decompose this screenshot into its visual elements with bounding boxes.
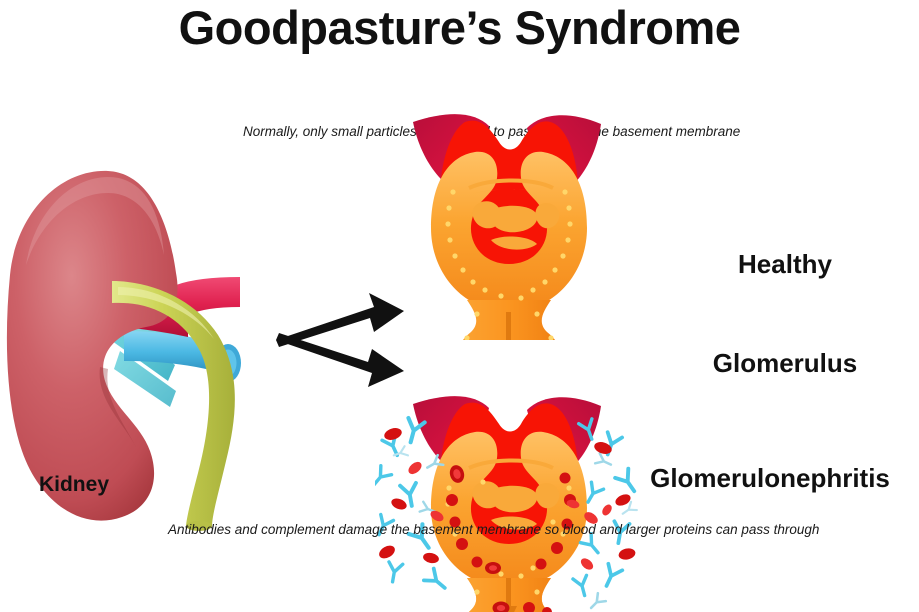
healthy-label-line2: Glomerulus <box>655 347 915 380</box>
healthy-glomerulus-illustration <box>405 100 615 340</box>
branching-arrow-icon <box>268 285 408 395</box>
diagram-canvas: Goodpasture’s Syndrome <box>0 0 919 600</box>
healthy-glomerulus-label: Healthy Glomerulus <box>655 182 915 446</box>
diseased-glomerulus-illustration <box>375 382 645 612</box>
healthy-label-line1: Healthy <box>655 248 915 281</box>
page-title: Goodpasture’s Syndrome <box>0 0 919 56</box>
diseased-note-text: Antibodies and complement damage the bas… <box>168 522 400 539</box>
healthy-note-text: Normally, only small particles are allow… <box>243 124 393 141</box>
kidney-label: Kidney <box>0 468 148 501</box>
kidney-illustration <box>0 155 260 575</box>
glomerulonephritis-label: Glomerulonephritis <box>620 462 919 495</box>
